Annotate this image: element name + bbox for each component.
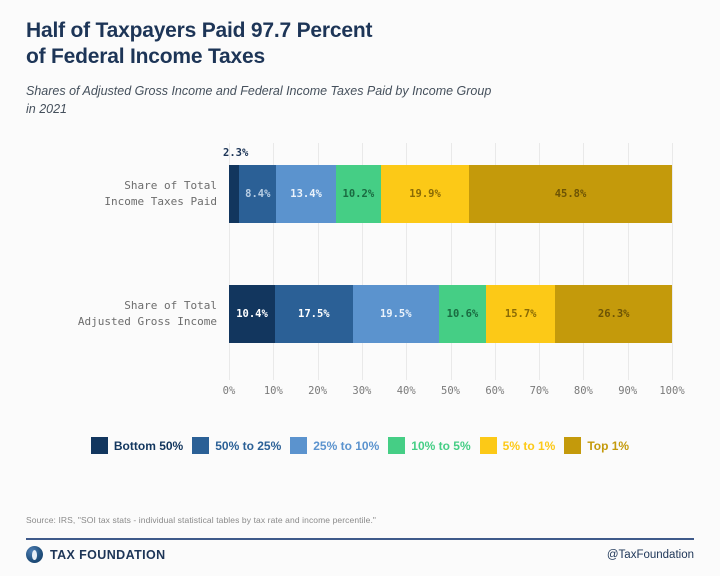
bar-segment-label: 8.4% <box>245 188 270 200</box>
bar-segment[interactable]: 8.4% <box>239 165 276 223</box>
gridline <box>672 143 673 380</box>
legend-item[interactable]: 10% to 5% <box>388 437 470 454</box>
social-handle: @TaxFoundation <box>607 549 694 561</box>
x-axis-tick: 100% <box>659 385 684 397</box>
bar-segment-label: 19.5% <box>380 308 412 320</box>
category-label: Share of Total Income Taxes Paid <box>17 178 217 210</box>
legend-item[interactable]: 25% to 10% <box>290 437 379 454</box>
stacked-bar: 2.3%8.4%13.4%10.2%19.9%45.8% <box>229 165 672 223</box>
legend-label: Top 1% <box>587 439 629 453</box>
legend-swatch <box>480 437 497 454</box>
legend-swatch <box>388 437 405 454</box>
bar-segment-label: 10.2% <box>343 188 375 200</box>
bar-segment[interactable]: 10.4% <box>229 285 275 343</box>
stacked-bar: 10.4%17.5%19.5%10.6%15.7%26.3% <box>229 285 672 343</box>
legend-label: 5% to 1% <box>503 439 556 453</box>
bar-segment[interactable]: 10.2% <box>336 165 381 223</box>
legend-swatch <box>290 437 307 454</box>
bar-segment[interactable]: 26.3% <box>555 285 672 343</box>
category-label: Share of Total Adjusted Gross Income <box>17 298 217 330</box>
legend-label: Bottom 50% <box>114 439 183 453</box>
bar-segment-label: 26.3% <box>598 308 630 320</box>
legend-item[interactable]: 5% to 1% <box>480 437 556 454</box>
bar-segment-label: 2.3% <box>223 147 248 159</box>
tax-foundation-logo-icon <box>26 546 43 563</box>
legend-label: 10% to 5% <box>411 439 470 453</box>
bar-segment-label: 13.4% <box>290 188 322 200</box>
plot-area: Share of Total Income Taxes Paid2.3%8.4%… <box>229 143 672 380</box>
legend-swatch <box>91 437 108 454</box>
bar-segment-label: 10.6% <box>447 308 479 320</box>
chart-plot-wrap: Share of Total Income Taxes Paid2.3%8.4%… <box>0 135 720 403</box>
bar-segment[interactable]: 2.3% <box>229 165 239 223</box>
x-axis-tick: 30% <box>352 385 371 397</box>
legend-swatch <box>564 437 581 454</box>
bar-row: Share of Total Income Taxes Paid2.3%8.4%… <box>229 165 672 223</box>
bar-segment[interactable]: 19.9% <box>381 165 469 223</box>
x-axis-tick: 90% <box>618 385 637 397</box>
legend-item[interactable]: Bottom 50% <box>91 437 183 454</box>
x-axis: 0%10%20%30%40%50%60%70%80%90%100% <box>229 385 672 403</box>
footer-divider <box>26 538 694 540</box>
legend-swatch <box>192 437 209 454</box>
chart-legend: Bottom 50%50% to 25%25% to 10%10% to 5%5… <box>0 437 720 454</box>
bar-row: Share of Total Adjusted Gross Income10.4… <box>229 285 672 343</box>
legend-label: 50% to 25% <box>215 439 281 453</box>
bar-segment-label: 10.4% <box>236 308 268 320</box>
page-title: Half of Taxpayers Paid 97.7 Percent of F… <box>26 18 694 70</box>
brand-lockup: TAX FOUNDATION <box>26 546 166 563</box>
legend-item[interactable]: Top 1% <box>564 437 629 454</box>
brand-name: TAX FOUNDATION <box>50 548 166 562</box>
x-axis-tick: 10% <box>264 385 283 397</box>
bar-segment[interactable]: 17.5% <box>275 285 353 343</box>
x-axis-tick: 70% <box>530 385 549 397</box>
legend-label: 25% to 10% <box>313 439 379 453</box>
chart-page: Half of Taxpayers Paid 97.7 Percent of F… <box>0 0 720 576</box>
chart-header: Half of Taxpayers Paid 97.7 Percent of F… <box>0 0 720 119</box>
x-axis-tick: 50% <box>441 385 460 397</box>
x-axis-tick: 80% <box>574 385 593 397</box>
bar-segment[interactable]: 13.4% <box>276 165 335 223</box>
bar-segment-label: 45.8% <box>555 188 587 200</box>
bar-segment-label: 17.5% <box>298 308 330 320</box>
legend-item[interactable]: 50% to 25% <box>192 437 281 454</box>
bar-segment[interactable]: 19.5% <box>353 285 439 343</box>
bar-segment[interactable]: 45.8% <box>469 165 672 223</box>
x-axis-tick: 60% <box>485 385 504 397</box>
x-axis-tick: 0% <box>223 385 236 397</box>
x-axis-tick: 20% <box>308 385 327 397</box>
source-note: Source: IRS, "SOI tax stats - individual… <box>26 515 376 525</box>
bar-segment[interactable]: 15.7% <box>486 285 556 343</box>
bar-segment-label: 15.7% <box>505 308 537 320</box>
x-axis-tick: 40% <box>397 385 416 397</box>
bar-segment[interactable]: 10.6% <box>439 285 486 343</box>
chart-subtitle: Shares of Adjusted Gross Income and Fede… <box>26 83 666 119</box>
footer: TAX FOUNDATION @TaxFoundation <box>26 546 694 563</box>
bar-segment-label: 19.9% <box>409 188 441 200</box>
